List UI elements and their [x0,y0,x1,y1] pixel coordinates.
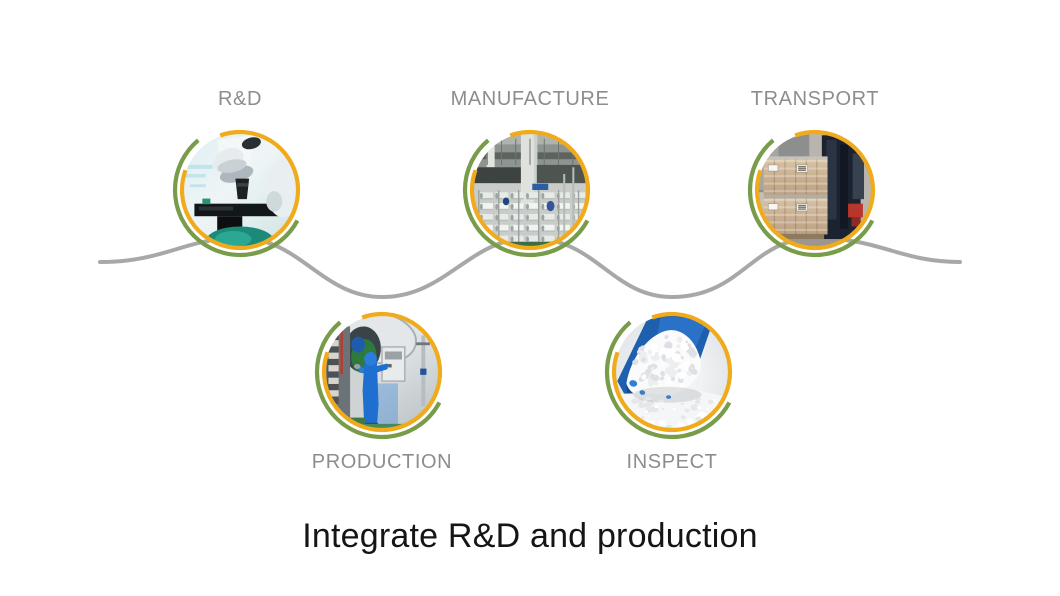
process-node-manufacture[interactable]: MANUFACTURE [457,117,603,263]
ring-arc-yellow [614,314,730,430]
progress-ring-transport [742,117,888,263]
progress-ring-inspect [599,299,745,445]
process-node-inspect[interactable]: INSPECT [599,299,745,445]
process-node-transport[interactable]: TRANSPORT [742,117,888,263]
ring-arc-green [175,140,297,255]
ring-arc-green [465,140,587,255]
ring-arc-yellow [472,132,588,248]
ring-arc-yellow [757,132,873,248]
ring-arc-green [607,322,729,437]
process-node-rd[interactable]: R&D [167,117,313,263]
process-node-production[interactable]: PRODUCTION [309,299,455,445]
page-title: Integrate R&D and production [0,517,1060,556]
ring-arc-green [750,140,872,255]
node-label-production: PRODUCTION [312,451,452,474]
infographic-stage: R&DMANUFACTURETRANSPORTPRODUCTIONINSPECT… [0,0,1060,596]
ring-arc-yellow [182,132,298,248]
node-label-inspect: INSPECT [627,451,718,474]
progress-ring-manufacture [457,117,603,263]
progress-ring-rd [167,117,313,263]
node-label-rd: R&D [218,88,262,111]
progress-ring-production [309,299,455,445]
ring-arc-green [317,322,439,437]
ring-arc-yellow [324,314,440,430]
node-label-manufacture: MANUFACTURE [451,88,610,111]
node-label-transport: TRANSPORT [751,88,879,111]
